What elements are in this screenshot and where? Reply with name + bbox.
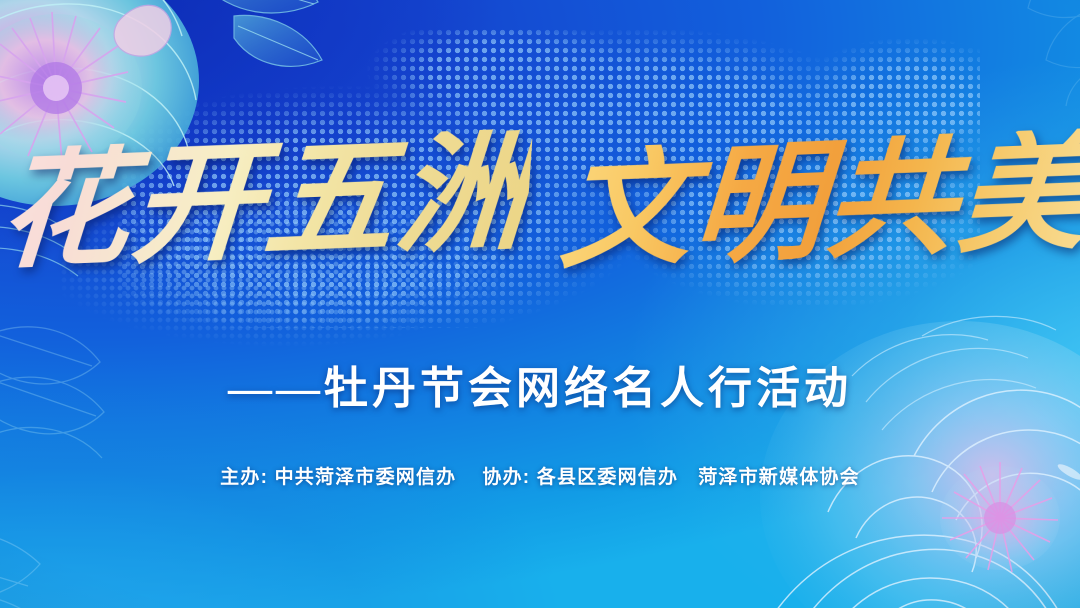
credits-organizer: 主办: 中共菏泽市委网信办 [220, 462, 456, 489]
title-part-b: 文明共美 [557, 128, 1080, 278]
poster-subtitle: ——牡丹节会网络名人行活动 [0, 352, 1080, 416]
background-vignette [0, 0, 1080, 608]
poster-credits: 主办: 中共菏泽市委网信办协办: 各县区委网信办菏泽市新媒体协会 [0, 462, 1080, 489]
title-part-a: 花开五洲 [0, 128, 533, 278]
poster-canvas: 花开五洲文明共美 ——牡丹节会网络名人行活动 主办: 中共菏泽市委网信办协办: … [0, 0, 1080, 608]
credits-coorganizer: 协办: 各县区委网信办 [482, 462, 678, 489]
poster-title: 花开五洲文明共美 [0, 138, 1080, 268]
credits-partner: 菏泽市新媒体协会 [698, 462, 860, 489]
